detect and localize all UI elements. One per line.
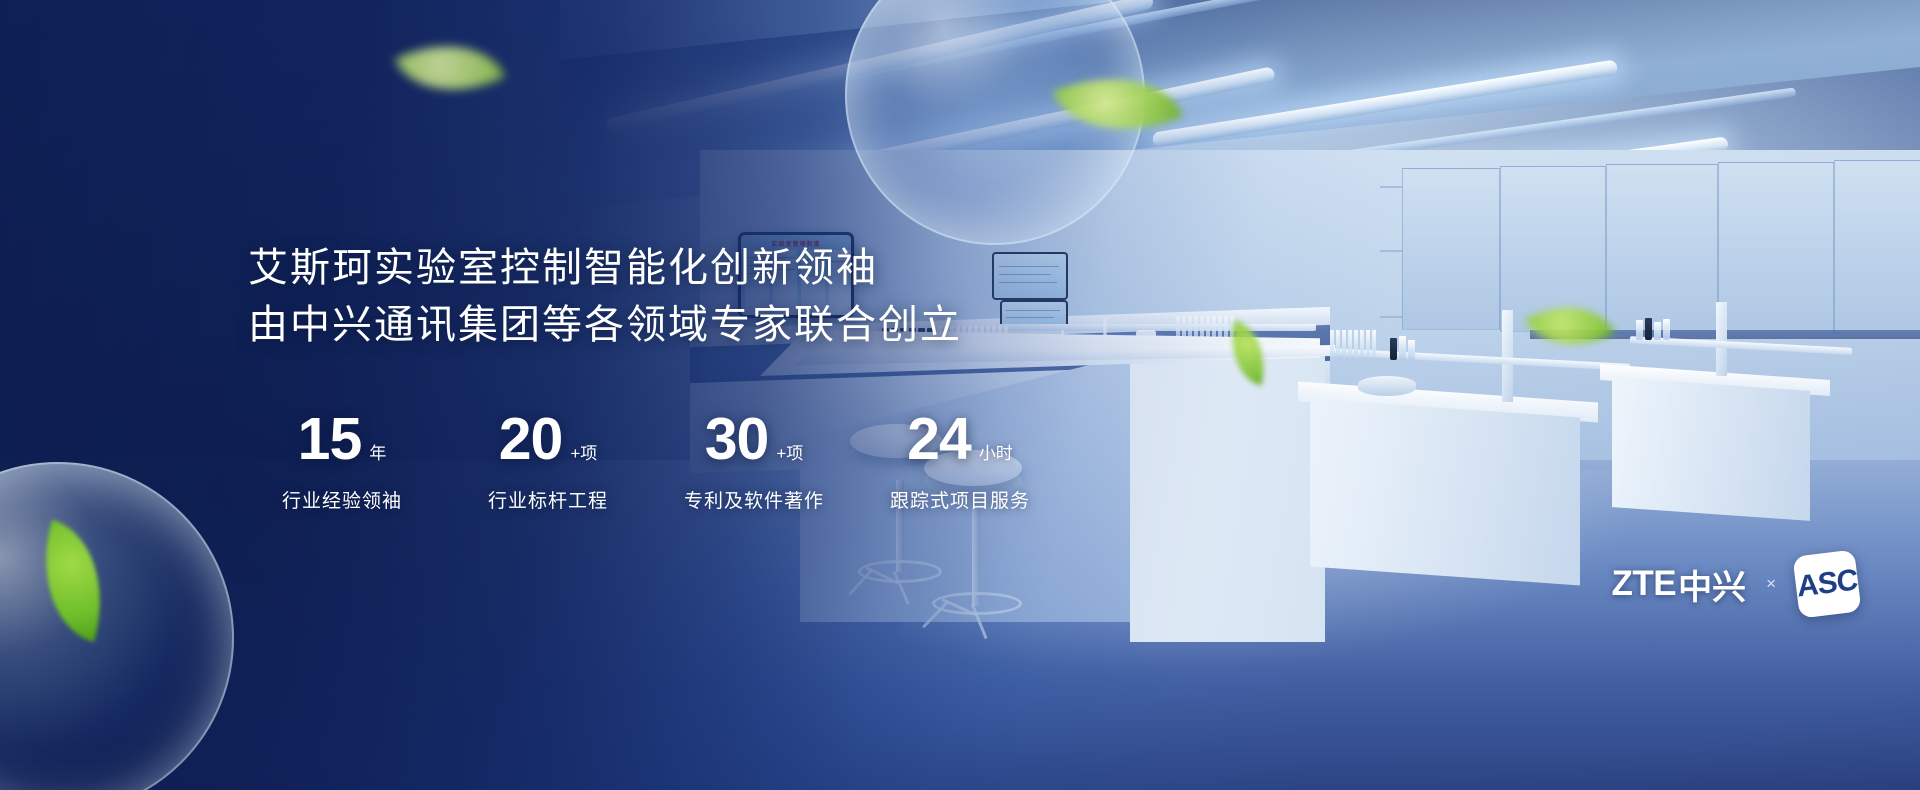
stat-unit: +项 [776, 439, 803, 464]
stat-number: 20 [499, 410, 563, 469]
headline-line-1: 艾斯珂实验室控制智能化创新领袖 [248, 240, 962, 297]
logo-separator: × [1766, 574, 1776, 594]
logo-lockup: ZTE 中兴 × ASC [1611, 553, 1858, 615]
headline-line-2: 由中兴通讯集团等各领域专家联合创立 [248, 297, 962, 354]
stat-item-patents: 30 +项 专利及软件著作 [658, 410, 864, 513]
stats-row: 15 年 行业经验领袖 20 +项 行业标杆工程 30 +项 专利及软件著作 [246, 410, 1070, 513]
stat-number: 24 [907, 410, 971, 469]
stat-label: 行业经验领袖 [246, 486, 452, 513]
zte-logo: ZTE 中兴 [1611, 560, 1746, 609]
stat-item-service: 24 小时 跟踪式项目服务 [864, 410, 1070, 513]
banner-content: 艾斯珂实验室控制智能化创新领袖 由中兴通讯集团等各领域专家联合创立 15 年 行… [0, 0, 1920, 790]
asc-logo-text: ASC [1796, 563, 1858, 604]
headline: 艾斯珂实验室控制智能化创新领袖 由中兴通讯集团等各领域专家联合创立 [248, 240, 962, 354]
stat-unit: 年 [369, 439, 386, 464]
zte-logo-cn: 中兴 [1678, 560, 1746, 609]
stat-unit: 小时 [979, 439, 1013, 464]
stat-label: 专利及软件著作 [658, 486, 864, 513]
stat-item-experience: 15 年 行业经验领袖 [246, 410, 452, 513]
zte-logo-en: ZTE [1611, 564, 1676, 604]
hero-banner: 实验室管理制度 [0, 0, 1920, 790]
asc-logo: ASC [1792, 549, 1861, 618]
stat-unit: +项 [570, 439, 597, 464]
stat-item-projects: 20 +项 行业标杆工程 [452, 410, 658, 513]
stat-label: 跟踪式项目服务 [864, 486, 1070, 513]
stat-number: 30 [705, 410, 769, 469]
stat-number: 15 [298, 410, 362, 469]
stat-label: 行业标杆工程 [452, 486, 658, 513]
